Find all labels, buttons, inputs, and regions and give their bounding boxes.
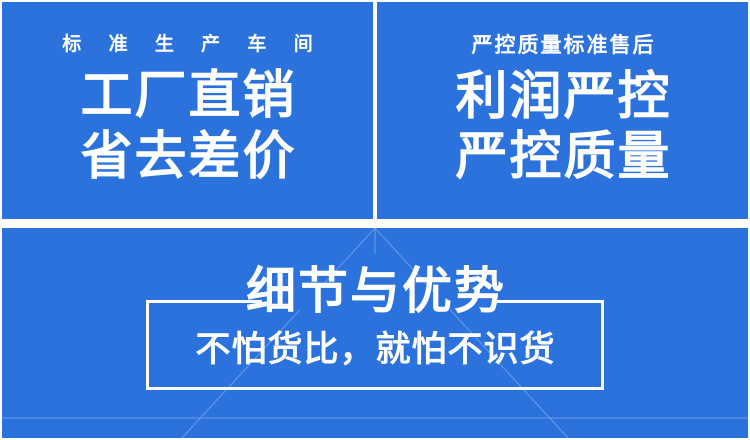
panel-factory-direct: 标 准 生 产 车 间 工厂直销 省去差价 <box>2 2 373 219</box>
panel-quality-control-content: 严控质量标准售后 利润严控 严控质量 <box>377 2 748 219</box>
panel-quality-control: 严控质量标准售后 利润严控 严控质量 <box>377 2 748 219</box>
eyebrow-standard-workshop: 标 准 生 产 车 间 <box>51 35 323 54</box>
panel-factory-direct-content: 标 准 生 产 车 间 工厂直销 省去差价 <box>2 2 373 219</box>
subtitle-compare-goods: 不怕货比，就怕不识货 <box>2 332 748 367</box>
promo-banner: 标 准 生 产 车 间 工厂直销 省去差价 严控质量标准售后 利润严控 严控质量… <box>0 0 750 440</box>
headline-quality-control-line1: 利润严控 <box>453 68 671 126</box>
panel-details-advantages-content: 细节与优势 不怕货比，就怕不识货 <box>2 228 748 438</box>
headline-factory-direct-line2: 省去差价 <box>78 128 296 186</box>
eyebrow-quality-aftersales: 严控质量标准售后 <box>470 35 656 56</box>
headline-quality-control-line2: 严控质量 <box>453 128 671 186</box>
headline-factory-direct-line1: 工厂直销 <box>78 67 296 125</box>
title-details-advantages: 细节与优势 <box>2 266 748 316</box>
panel-details-advantages: 细节与优势 不怕货比，就怕不识货 <box>2 228 748 438</box>
